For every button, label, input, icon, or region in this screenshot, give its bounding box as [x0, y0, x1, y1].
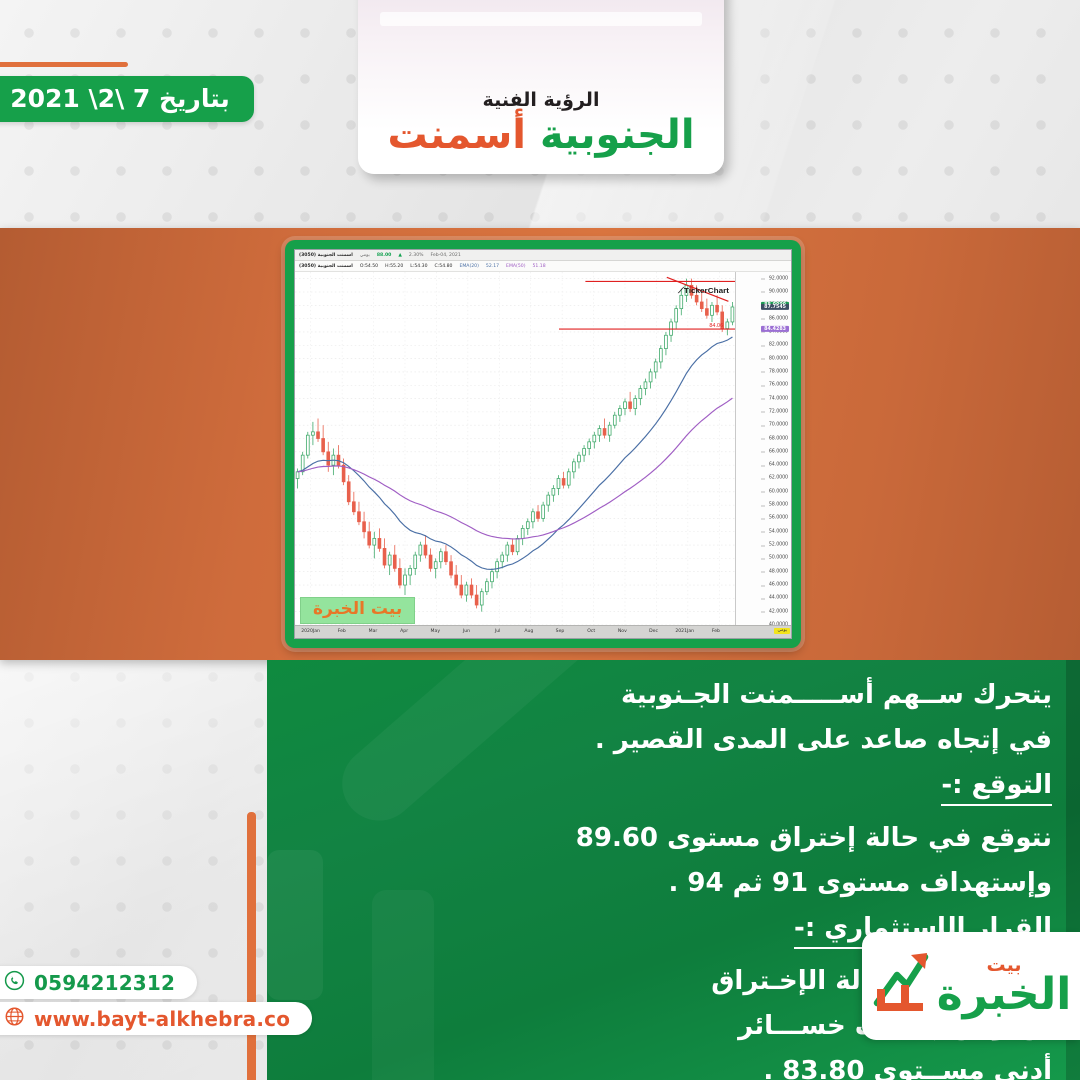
price-tick: 76.0000	[769, 383, 788, 388]
contact-phone-number: 0594212312	[34, 971, 175, 995]
chart-close: C:54.80	[435, 264, 453, 269]
price-tick: 54.0000	[769, 529, 788, 534]
chart-last-price: 88.00	[377, 253, 392, 258]
price-tick: 70.0000	[769, 423, 788, 428]
price-tick: 80.0000	[769, 356, 788, 361]
chart-open: O:54.50	[360, 264, 378, 269]
price-tick: 50.0000	[769, 556, 788, 561]
price-tick: 74.0000	[769, 396, 788, 401]
date-badge: بتاريخ 7 \2\ 2021	[0, 76, 254, 122]
poster-root: بتاريخ 7 \2\ 2021 الرؤية الفنية الجنوبية…	[0, 0, 1080, 1080]
time-tick: 2020Jan	[301, 629, 320, 634]
chart-ema50-value: 51.18	[533, 264, 546, 269]
chart-ohlc-row: اسمنت الجنوبية (3050) O:54.50 H:55.20 L:…	[295, 261, 791, 272]
contact-website-url: www.bayt-alkhebra.co	[34, 1007, 290, 1031]
price-tick: 44.0000	[769, 596, 788, 601]
time-tick: May	[431, 629, 441, 634]
price-tick: 68.0000	[769, 436, 788, 441]
chart-time-axis: يومي 2020JanFebMarAprMayJunJulAugSepOctN…	[295, 625, 791, 638]
svg-text:⟋TickerChart: ⟋TickerChart	[677, 286, 729, 295]
time-tick: Jul	[495, 629, 501, 634]
price-tick: 56.0000	[769, 516, 788, 521]
title-card-sheen	[380, 12, 702, 26]
orange-vertical-accent-bar	[247, 812, 256, 1080]
price-tick: 48.0000	[769, 569, 788, 574]
title-company-name: الجنوبية أسمنت	[387, 113, 694, 158]
time-tick: Dec	[649, 629, 658, 634]
time-tick: Feb	[338, 629, 346, 634]
time-tick: Mar	[369, 629, 378, 634]
chart-plot-wrapper: 84.06⟋TickerChart 92.000090.000088.00008…	[295, 272, 791, 638]
chart-watermark: بيت الخبرة	[300, 597, 415, 624]
chart-plot-area[interactable]: 84.06⟋TickerChart	[295, 272, 735, 625]
chart-symbol-title: اسمنت الجنوبية (3050)	[299, 253, 353, 258]
chart-price-axis: 92.000090.000088.000086.000084.000082.00…	[735, 272, 791, 625]
price-tick: 78.0000	[769, 369, 788, 374]
title-word-green: الجنوبية	[540, 112, 695, 158]
price-tick: 60.0000	[769, 489, 788, 494]
date-accent-rule	[0, 62, 128, 67]
price-badge-last: 87.7545	[761, 304, 789, 310]
price-tick: 66.0000	[769, 449, 788, 454]
time-tick: Apr	[400, 629, 408, 634]
price-tick: 64.0000	[769, 463, 788, 468]
price-tick: 52.0000	[769, 543, 788, 548]
time-tick: Oct	[587, 629, 595, 634]
forecast-line-1: نتوقع في حالة إختراق مستوى 89.60	[312, 825, 1052, 851]
decision-line-3: أدنى مســتوى 83.80 .	[312, 1058, 1052, 1080]
price-tick: 72.0000	[769, 409, 788, 414]
chart-ema50-label: EMA(50)	[506, 264, 525, 269]
chart-ema20-label: EMA(20)	[459, 264, 478, 269]
logo-growth-arrow-icon	[871, 945, 933, 1027]
globe-icon	[4, 1006, 25, 1031]
price-tick: 58.0000	[769, 503, 788, 508]
price-tick: 86.0000	[769, 316, 788, 321]
whatsapp-icon	[4, 970, 25, 995]
chart-low: L:54.30	[410, 264, 427, 269]
chart-header-row: اسمنت الجنوبية (3050) يومي 88.00 ▲ 2.30%…	[295, 250, 791, 261]
logo-word-khebra: الخبرة	[937, 969, 1072, 1020]
price-tick: 42.0000	[769, 609, 788, 614]
time-tick: Aug	[524, 629, 533, 634]
forecast-line-2: وإستهداف مستوى 91 ثم 94 .	[312, 870, 1052, 896]
candlestick-svg: 84.06⟋TickerChart	[295, 272, 735, 625]
price-tick: 46.0000	[769, 583, 788, 588]
time-tick: 2021Jan	[675, 629, 694, 634]
price-badge-support: 84.4283	[761, 326, 789, 332]
chart-change-arrow-icon: ▲	[398, 253, 402, 258]
chart-frame: اسمنت الجنوبية (3050) يومي 88.00 ▲ 2.30%…	[285, 240, 801, 648]
chart-ohlc-symbol: اسمنت الجنوبية (3050)	[299, 264, 353, 269]
chart-timeframe: يومي	[360, 253, 370, 258]
logo-text: بيت الخبرة	[937, 957, 1072, 1015]
price-tick: 62.0000	[769, 476, 788, 481]
time-axis-badge: يومي	[774, 628, 790, 634]
title-card: الرؤية الفنية الجنوبية أسمنت	[358, 0, 724, 174]
time-tick: Nov	[618, 629, 627, 634]
time-tick: Sep	[556, 629, 565, 634]
analysis-line-2: في إتجاه صاعد على المدى القصير .	[312, 727, 1052, 753]
contact-phone[interactable]: 0594212312	[0, 966, 197, 999]
contact-website[interactable]: www.bayt-alkhebra.co	[0, 1002, 312, 1035]
chart-change-percent: 2.30%	[409, 253, 424, 258]
price-tick: 90.0000	[769, 289, 788, 294]
brand-logo: بيت الخبرة	[862, 932, 1080, 1040]
chart-panel: اسمنت الجنوبية (3050) يومي 88.00 ▲ 2.30%…	[294, 249, 792, 639]
analysis-line-1: يتحرك ســهم أســـــمنت الجـنوبية	[312, 682, 1052, 708]
svg-text:84.06: 84.06	[709, 323, 723, 329]
forecast-heading: التوقع :-	[941, 772, 1052, 806]
title-word-orange: أسمنت	[387, 112, 526, 158]
title-subtitle: الرؤية الفنية	[483, 89, 600, 111]
time-tick: Jun	[463, 629, 470, 634]
forecast-heading-wrap: التوقع :-	[312, 772, 1052, 825]
price-tick: 82.0000	[769, 343, 788, 348]
chart-high: H:55.20	[385, 264, 403, 269]
chart-quote-date: Feb-04, 2021	[431, 253, 461, 258]
chart-ema20-value: 52.17	[486, 264, 499, 269]
price-tick: 92.0000	[769, 276, 788, 281]
time-tick: Feb	[712, 629, 720, 634]
